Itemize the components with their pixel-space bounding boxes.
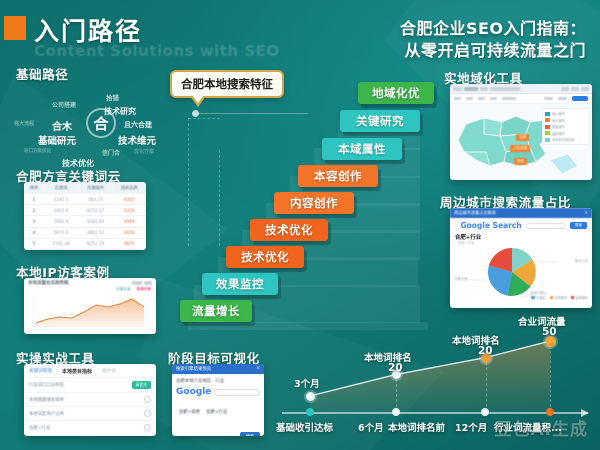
localization-map-card[interactable]: 合肥 六安合肥 安庆 核心城市 重点城市 覆盖城市 辐射城市 待开拓市场区域: [450, 84, 592, 180]
cloud-word: 较口方案优化: [24, 148, 51, 154]
cloud-word: 且六合建: [124, 120, 152, 130]
google-search-logo-icon: Google Search: [460, 221, 521, 230]
tools-row-badge: 高优先: [132, 381, 151, 389]
timeline-base-marker-1[interactable]: [306, 408, 314, 416]
ip-card-control[interactable]: [144, 281, 152, 285]
city-share-pie-chart: [450, 246, 592, 302]
stair-step-keyword-research[interactable]: 关键研究: [340, 110, 420, 132]
legend-label: 覆盖城市: [552, 124, 565, 129]
ip-case-card[interactable]: 本地流量会员趋势图 访客总量 新增访客: [24, 278, 156, 334]
ip-legend-item: 访客总量: [116, 287, 130, 292]
ip-area-chart: [24, 293, 156, 329]
tools-row-toggle[interactable]: [144, 410, 151, 417]
cell-volume: 583.25: [78, 194, 112, 205]
stage-goal-window-title: 搜索引擎结果预览: [176, 366, 211, 372]
table-row[interactable]: 5 5162.48 6252.19 9875: [24, 238, 146, 249]
tools-row-toggle[interactable]: [144, 396, 151, 403]
cloud-word: 强大流程: [14, 120, 34, 127]
cloud-word: 基础研元: [38, 133, 76, 147]
cloud-word: 合木: [52, 118, 72, 133]
tools-row-label: 本地词定用户分布: [29, 411, 64, 417]
map-marker-luan[interactable]: 六安合肥: [510, 145, 530, 152]
watermark: 豆包AI生成: [495, 415, 588, 440]
legend-label: 待开拓市场区域: [552, 137, 574, 142]
stair-step-localization[interactable]: 地域化优: [358, 82, 434, 104]
table-header-row: 排序 正搜词 月搜指作 进来品质: [24, 182, 146, 194]
cell-rank: 1: [24, 194, 44, 205]
legend-label: 核心城市: [552, 111, 565, 116]
timeline-xlabel-4: 12个月: [455, 420, 487, 434]
cell-rank: 4: [24, 227, 44, 238]
cell-quality: 4969: [113, 216, 146, 227]
timeline-xlabel-3: 本地词排名前: [388, 420, 445, 434]
table-col-rank: 排序: [24, 182, 44, 194]
table-col-volume: 月搜指作: [78, 182, 112, 194]
table-col-keyword: 正搜词: [44, 182, 78, 194]
cell-quality: 9875: [113, 238, 146, 249]
cell-volume: 5564.69: [78, 216, 112, 227]
timeline-guide: [396, 374, 397, 412]
stage-goal-query-hint: 合肥本地六合地区 · 行业: [176, 378, 260, 384]
tools-tab-1[interactable]: 关键词管理: [29, 368, 52, 375]
tools-tab-2[interactable]: 本地类目指标: [62, 368, 92, 375]
stage-goal-result[interactable]: · 合肥+装修: [176, 409, 200, 415]
timeline-value-4: 50: [542, 326, 557, 338]
cell-rank: 3: [24, 216, 44, 227]
stair-step-traffic-growth[interactable]: 流量增长: [180, 300, 252, 322]
timeline-line: [310, 336, 550, 413]
timeline-xlabel-1: 基础收引达标: [276, 420, 333, 434]
cell-keyword: 5615.0: [44, 227, 78, 238]
main-title: 合肥企业SEO入门指南： 从零开启可持续流量之门: [286, 18, 586, 61]
ip-legend-item: 新增访客: [137, 287, 151, 292]
timeline-guide: [550, 341, 551, 412]
cell-volume: 3862.53: [78, 227, 112, 238]
city-share-card[interactable]: 周边城市流量占比报表 × ‹ Google Search 搜索 合肥+行业 · …: [450, 208, 592, 308]
pie-query: 合肥+行业: [455, 233, 587, 241]
map-marker-hefei[interactable]: 合肥: [516, 134, 529, 141]
tools-tab-3[interactable]: 合计分: [102, 368, 116, 375]
cloud-word: 拾错: [106, 92, 119, 102]
stage-goal-card[interactable]: 搜索引擎结果预览 × 合肥本地六合地区 · 行业 Google · · · · …: [172, 364, 264, 436]
table-row[interactable]: 1 3242.5 583.25 8355: [24, 194, 146, 205]
main-title-line-2: 从零开启可持续流量之门: [404, 41, 586, 60]
stair-step-local-attr[interactable]: 本域属性: [322, 138, 402, 160]
pie-search-button[interactable]: 搜索: [570, 222, 587, 229]
hefei-logo-icon: 合: [86, 108, 116, 138]
back-icon[interactable]: ‹: [455, 224, 456, 228]
ip-card-control[interactable]: [132, 281, 142, 285]
page-subtitle: Content Solutions with SEO: [34, 42, 280, 60]
cell-keyword: 5162.48: [44, 238, 78, 249]
pie-label: 滁州六安: [574, 258, 588, 263]
pie-label: 合肥主城: [454, 276, 468, 281]
tools-row-label: 本地图题搜索频率: [29, 397, 64, 403]
cell-volume: 6252.19: [78, 238, 112, 249]
cloud-word: 公司搭建: [52, 100, 76, 109]
cell-quality: 5229: [113, 205, 146, 216]
map-marker-anqing[interactable]: 安庆: [514, 158, 527, 165]
map-legend: 核心城市 重点城市 覆盖城市 辐射城市 待开拓市场区域: [542, 108, 590, 145]
table-row[interactable]: 2 3402.6 6252.17 5229: [24, 205, 146, 216]
cell-keyword: 2660.9: [44, 216, 78, 227]
tools-row-label: 行业词口口分析较: [29, 382, 64, 388]
legend-label: 重点城市: [552, 118, 565, 123]
keyword-wordcloud: 公司搭建 拾错 技术研究 强大流程 合木 且六合建 基础研元 技术维元 较口方案…: [14, 78, 194, 163]
cloud-word: 技术维元: [118, 133, 156, 147]
stair-step-content-1[interactable]: 内容创作: [274, 192, 354, 214]
tools-row-toggle[interactable]: [144, 424, 151, 431]
legend-label: 辐射城市: [552, 131, 565, 136]
cell-keyword: 3402.6: [44, 205, 78, 216]
pie-window-title: 周边城市流量占比报表: [454, 210, 496, 216]
tools-card[interactable]: 关键词管理 本地类目指标 合计分 行业词口口分析较 高优先 本地图题搜索频率 本…: [24, 364, 156, 436]
stair-step-effect-monitor[interactable]: 效果监控: [202, 273, 278, 295]
stair-step-content-2[interactable]: 本容创作: [298, 165, 378, 187]
stair-step-tech-opt-1[interactable]: 技术优化: [226, 246, 304, 268]
cloud-word: 信门合: [102, 148, 120, 157]
cell-rank: 5: [24, 238, 44, 249]
search-input[interactable]: [214, 389, 260, 396]
tools-row-label: 合肥+行业: [29, 425, 50, 431]
timeline-base-marker-2[interactable]: [392, 408, 400, 416]
map-action-button[interactable]: [572, 96, 588, 101]
main-title-line-1: 合肥企业SEO入门指南：: [400, 19, 586, 38]
cell-keyword: 3242.5: [44, 194, 78, 205]
timeline-x-axis: [282, 412, 588, 414]
seo-staircase: 流量增长 效果监控 技术优化 技术优化 内容创作 本容创作 本域属性 关键研究 …: [180, 60, 430, 330]
search-button[interactable]: 搜索: [240, 432, 260, 437]
cell-rank: 2: [24, 205, 44, 216]
keyword-table-card[interactable]: 排序 正搜词 月搜指作 进来品质 1 3242.5 583.25 8355 2 …: [24, 182, 146, 250]
timeline-xlabel-2: 6个月: [358, 420, 384, 434]
timeline-value-2: 20: [388, 362, 403, 374]
infographic-canvas: 入门路径 Content Solutions with SEO 合肥企业SEO入…: [0, 0, 600, 450]
google-logo-icon: Google: [176, 387, 211, 397]
table-col-quality: 进来品质: [113, 182, 146, 194]
timeline-value-3: 20: [478, 345, 493, 357]
map-toolbar[interactable]: [450, 84, 592, 94]
tools-footer: 共 4 条数据 1 / 1: [24, 434, 156, 436]
cloud-word: 优化方案: [134, 148, 154, 155]
cell-quality: 4656: [113, 227, 146, 238]
close-icon[interactable]: ×: [584, 210, 588, 216]
table-row[interactable]: 3 2660.9 5564.69 4969: [24, 216, 146, 227]
stage-goal-result[interactable]: 合肥+行业: [206, 409, 227, 415]
timeline-note-1: 3个月: [294, 376, 320, 390]
cell-volume: 6252.17: [78, 205, 112, 216]
timeline-guide: [486, 357, 487, 412]
timeline-point-1[interactable]: [306, 392, 315, 401]
stair-step-tech-opt-2[interactable]: 技术优化: [250, 219, 328, 241]
ip-card-title: 本地流量会员趋势图: [28, 280, 69, 286]
keyword-table: 排序 正搜词 月搜指作 进来品质 1 3242.5 583.25 8355 2 …: [24, 182, 146, 250]
cell-quality: 8355: [113, 194, 146, 205]
timeline-base-marker-3[interactable]: [481, 408, 489, 416]
pie-search-input[interactable]: [526, 223, 566, 229]
close-icon[interactable]: ×: [256, 366, 260, 372]
table-row[interactable]: 4 5615.0 3862.53 4656: [24, 227, 146, 238]
header-accent-block: [4, 16, 26, 40]
